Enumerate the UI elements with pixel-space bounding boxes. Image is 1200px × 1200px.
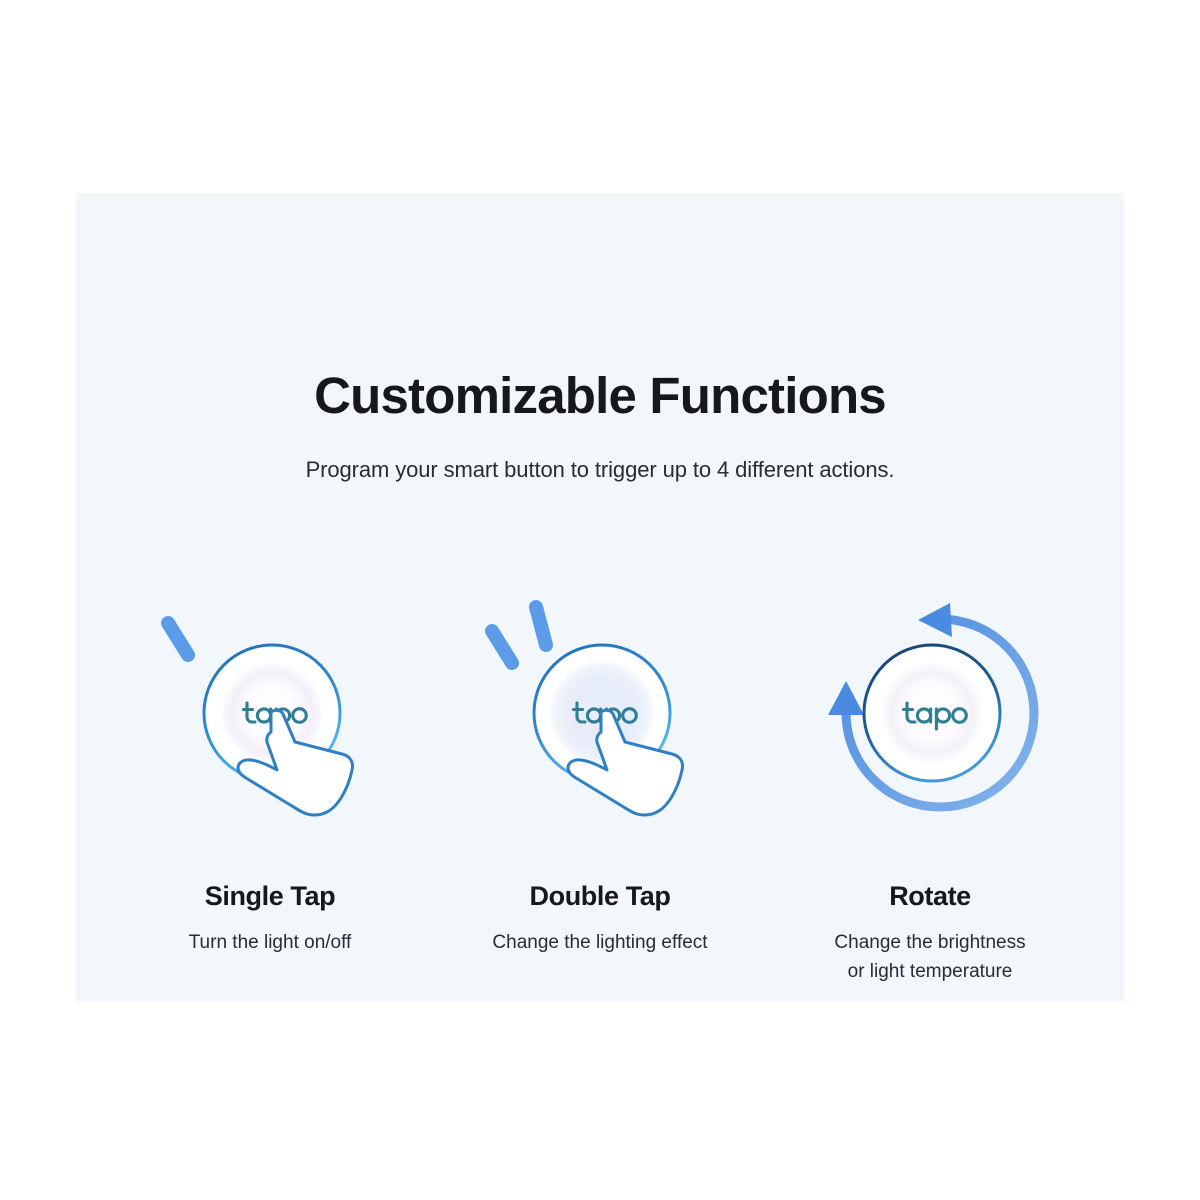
double-tap-illustration bbox=[470, 593, 730, 873]
feature-panel: Customizable Functions Program your smar… bbox=[76, 193, 1124, 1002]
feature-description: Change the brightness or light temperatu… bbox=[834, 912, 1025, 987]
feature-title: Rotate bbox=[889, 873, 971, 912]
feature-description: Change the lighting effect bbox=[492, 912, 707, 957]
feature-description: Turn the light on/off bbox=[189, 912, 352, 957]
feature-rotate: Rotate Change the brightness or light te… bbox=[765, 593, 1095, 987]
feature-title: Single Tap bbox=[205, 873, 336, 912]
single-tap-illustration bbox=[140, 593, 400, 873]
feature-title: Double Tap bbox=[530, 873, 671, 912]
feature-description-line: or light temperature bbox=[848, 961, 1013, 982]
tap-indicator-icon bbox=[492, 607, 546, 663]
page-title: Customizable Functions bbox=[76, 368, 1124, 424]
page-subtitle: Program your smart button to trigger up … bbox=[76, 424, 1124, 483]
page-canvas: Customizable Functions Program your smar… bbox=[0, 0, 1200, 1200]
feature-single-tap: Single Tap Turn the light on/off bbox=[105, 593, 435, 957]
rotate-illustration bbox=[800, 593, 1060, 873]
heading-block: Customizable Functions Program your smar… bbox=[76, 368, 1124, 483]
tap-indicator-icon bbox=[168, 623, 188, 655]
feature-description-line: Change the brightness bbox=[834, 932, 1025, 953]
tapo-button-icon bbox=[864, 645, 1000, 781]
feature-list: Single Tap Turn the light on/off bbox=[76, 593, 1124, 987]
feature-double-tap: Double Tap Change the lighting effect bbox=[435, 593, 765, 957]
